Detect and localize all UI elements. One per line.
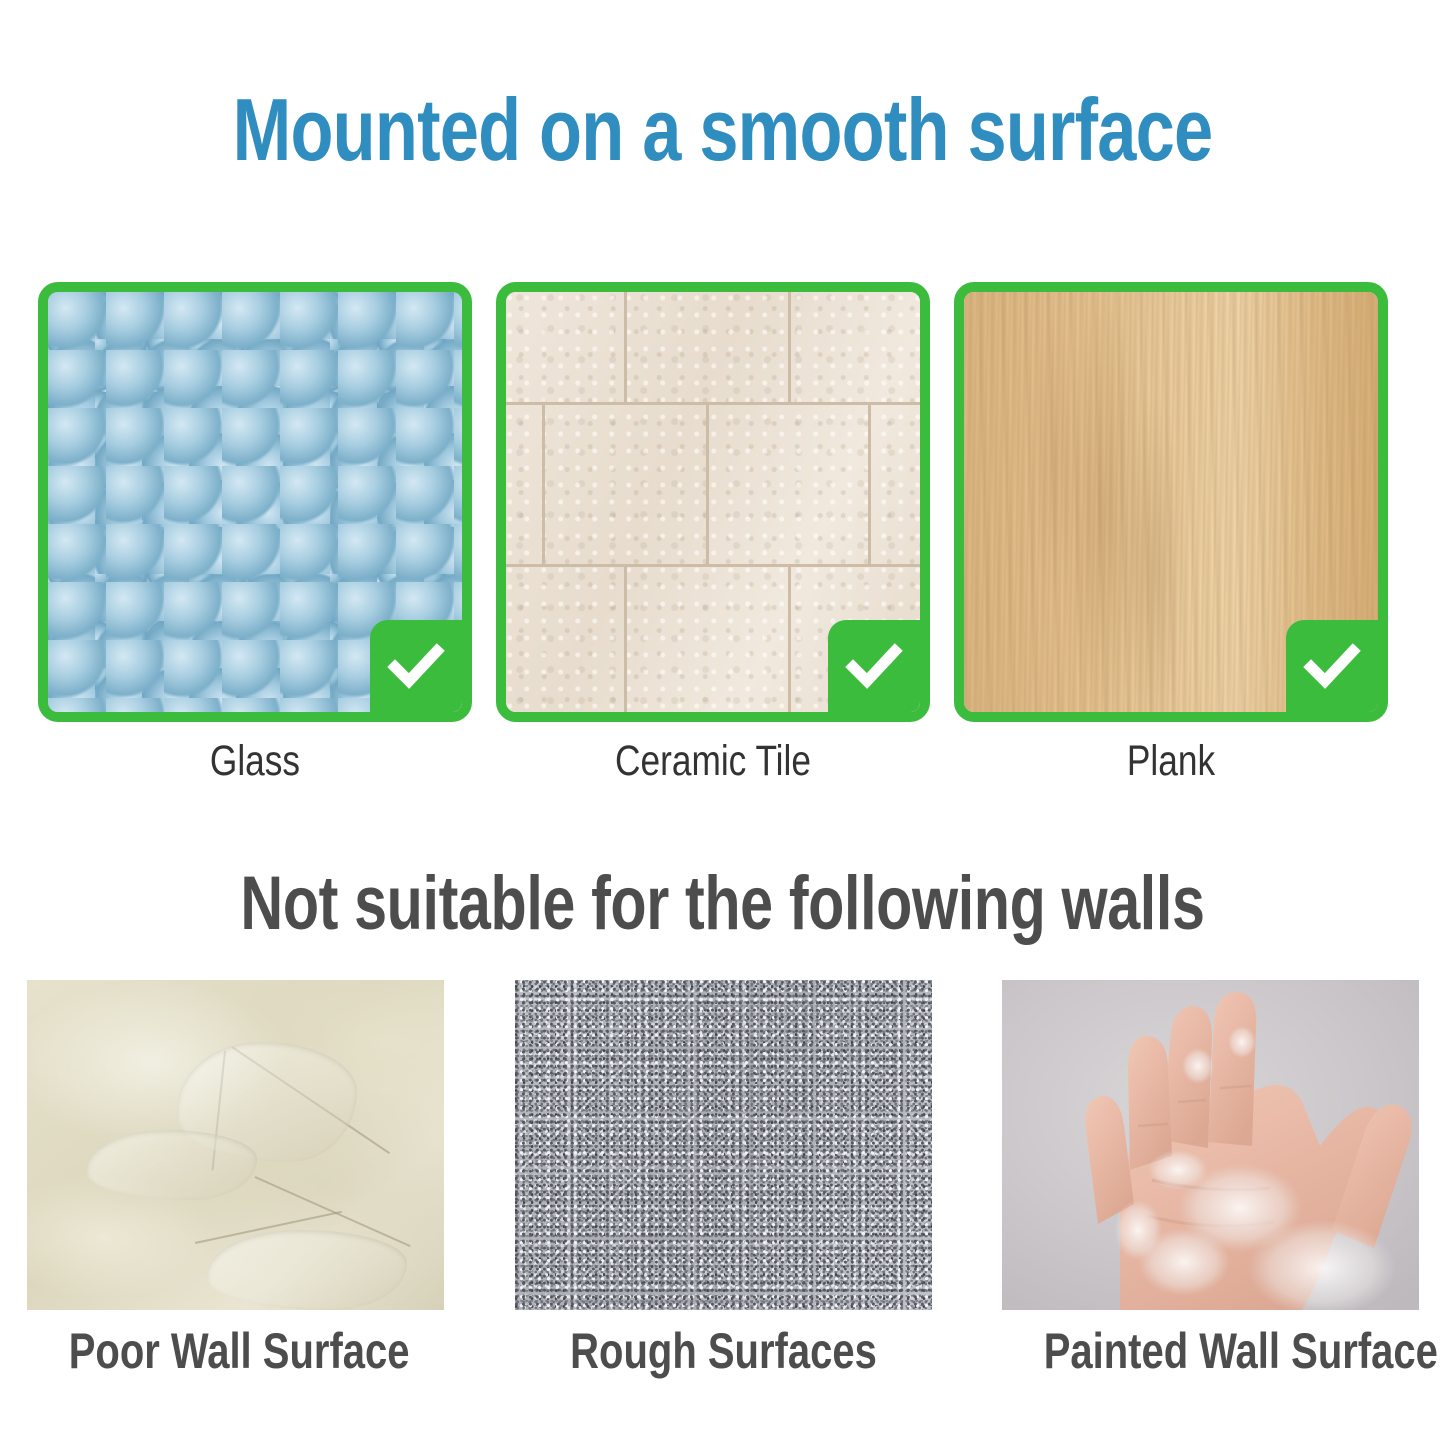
bad-surface-label-painted-wall: Painted Wall Surface: [1044, 1322, 1378, 1384]
check-icon: [828, 620, 920, 712]
bad-surface-label-rough: Rough Surfaces: [556, 1322, 890, 1384]
good-surfaces-row: [38, 282, 1388, 722]
good-surfaces-labels: Glass Ceramic Tile Plank: [38, 736, 1388, 792]
hand-with-paint-dust-icon: [1002, 980, 1419, 1310]
good-surface-label-glass: Glass: [77, 736, 433, 792]
painted-wall-texture: [1002, 980, 1419, 1310]
check-icon: [370, 620, 462, 712]
bad-surface-card-rough[interactable]: [515, 980, 932, 1310]
rough-surface-texture: [515, 980, 932, 1310]
bad-surfaces-labels: Poor Wall Surface Rough Surfaces Painted…: [27, 1322, 1419, 1384]
good-surface-label-ceramic-tile: Ceramic Tile: [535, 736, 891, 792]
product-infographic: { "headings": { "good": "Mounted on a sm…: [0, 0, 1445, 1445]
good-surface-card-plank[interactable]: [954, 282, 1388, 722]
bad-surface-card-painted-wall[interactable]: [1002, 980, 1419, 1310]
bad-surfaces-heading: Not suitable for the following walls: [159, 862, 1286, 946]
good-surface-label-plank: Plank: [993, 736, 1349, 792]
poor-wall-texture: [27, 980, 444, 1310]
good-surface-card-ceramic-tile[interactable]: [496, 282, 930, 722]
good-surface-card-glass[interactable]: [38, 282, 472, 722]
check-icon: [1286, 620, 1378, 712]
bad-surface-card-poor-wall[interactable]: [27, 980, 444, 1310]
bad-surface-label-poor-wall: Poor Wall Surface: [69, 1322, 403, 1384]
bad-surfaces-row: [27, 980, 1419, 1310]
good-surfaces-heading: Mounted on a smooth surface: [145, 82, 1301, 178]
